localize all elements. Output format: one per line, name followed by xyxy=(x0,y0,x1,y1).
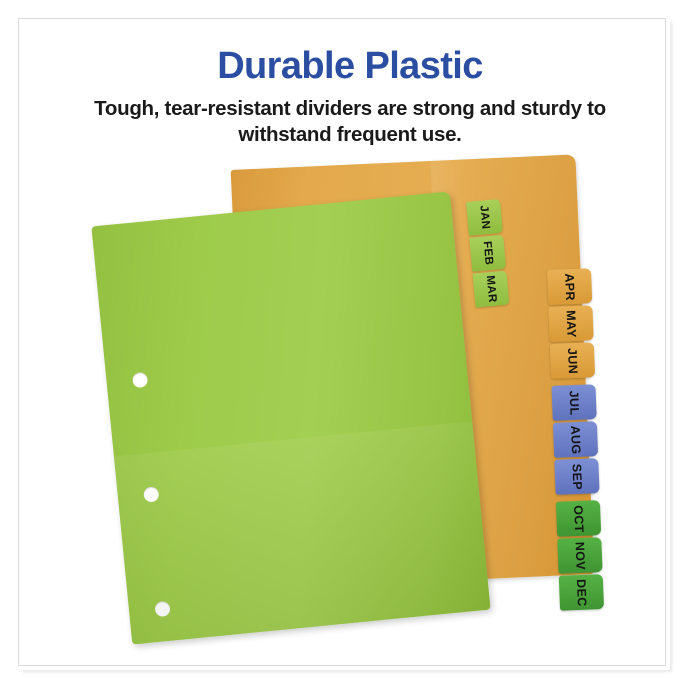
tab-sep[interactable]: SEP xyxy=(554,458,599,495)
tab-label: JAN xyxy=(477,205,491,230)
tab-label: APR xyxy=(562,273,577,301)
page-title: Durable Plastic xyxy=(40,44,660,88)
tab-mar[interactable]: MAR xyxy=(473,271,510,308)
tab-jul[interactable]: JUL xyxy=(551,384,596,421)
tab-label: SEP xyxy=(569,463,584,490)
divider-sheet-green xyxy=(91,191,490,644)
tab-apr[interactable]: APR xyxy=(547,268,592,305)
tab-label: JUN xyxy=(565,347,580,374)
tab-jun[interactable]: JUN xyxy=(550,342,595,379)
product-feature-card: Durable Plastic Tough, tear-resistant di… xyxy=(0,0,700,700)
tab-feb[interactable]: FEB xyxy=(469,235,506,272)
tab-label: NOV xyxy=(572,541,587,570)
tab-label: FEB xyxy=(481,241,495,266)
punch-hole xyxy=(132,372,148,388)
tab-label: DEC xyxy=(574,578,589,606)
page-subtitle: Tough, tear-resistant dividers are stron… xyxy=(65,96,635,148)
tab-label: MAR xyxy=(484,275,498,303)
tab-aug[interactable]: AUG xyxy=(553,421,598,458)
tab-dec[interactable]: DEC xyxy=(559,574,604,611)
tab-nov[interactable]: NOV xyxy=(557,537,602,574)
headline-block: Durable Plastic Tough, tear-resistant di… xyxy=(40,44,660,148)
tab-oct[interactable]: OCT xyxy=(556,500,601,537)
tab-may[interactable]: MAY xyxy=(548,305,593,342)
tab-label: MAY xyxy=(564,309,579,337)
punch-hole xyxy=(154,601,170,617)
tab-label: OCT xyxy=(571,504,586,532)
tab-jan[interactable]: JAN xyxy=(466,199,503,236)
punch-hole xyxy=(143,486,159,502)
tab-label: AUG xyxy=(568,425,583,455)
product-image: APRMAYJUNJULAUGSEPOCTNOVDEC JANFEBMAR xyxy=(19,150,665,655)
tab-label: JUL xyxy=(567,390,582,415)
